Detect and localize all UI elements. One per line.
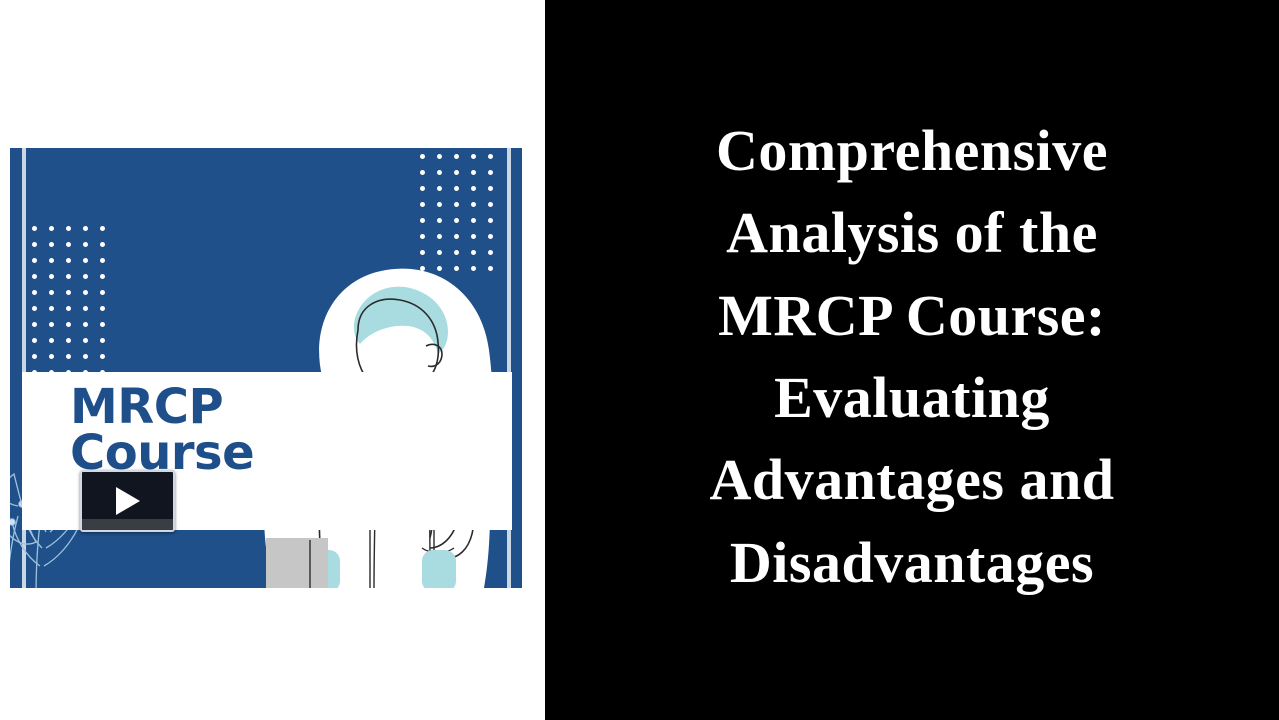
page-title: Comprehensive Analysis of the MRCP Cours…: [592, 110, 1232, 604]
mrcp-course-wordmark: MRCP Course: [70, 384, 400, 476]
left-media-panel: MRCP Course: [0, 0, 545, 720]
slide-canvas: MRCP Course Comprehensive Analysis of th…: [0, 0, 1279, 720]
right-title-panel: Comprehensive Analysis of the MRCP Cours…: [545, 0, 1279, 720]
play-triangle-icon: [116, 487, 140, 515]
title-line: Comprehensive: [592, 110, 1232, 192]
wordmark-line-1: MRCP: [70, 384, 400, 430]
title-line: Advantages and: [592, 439, 1232, 521]
video-thumbnail[interactable]: MRCP Course: [10, 148, 522, 588]
title-line: Evaluating: [592, 357, 1232, 439]
title-line: Analysis of the: [592, 192, 1232, 274]
play-button[interactable]: [80, 470, 175, 532]
title-line: Disadvantages: [592, 522, 1232, 604]
video-player-frame: [80, 470, 175, 532]
title-line: MRCP Course:: [592, 275, 1232, 357]
